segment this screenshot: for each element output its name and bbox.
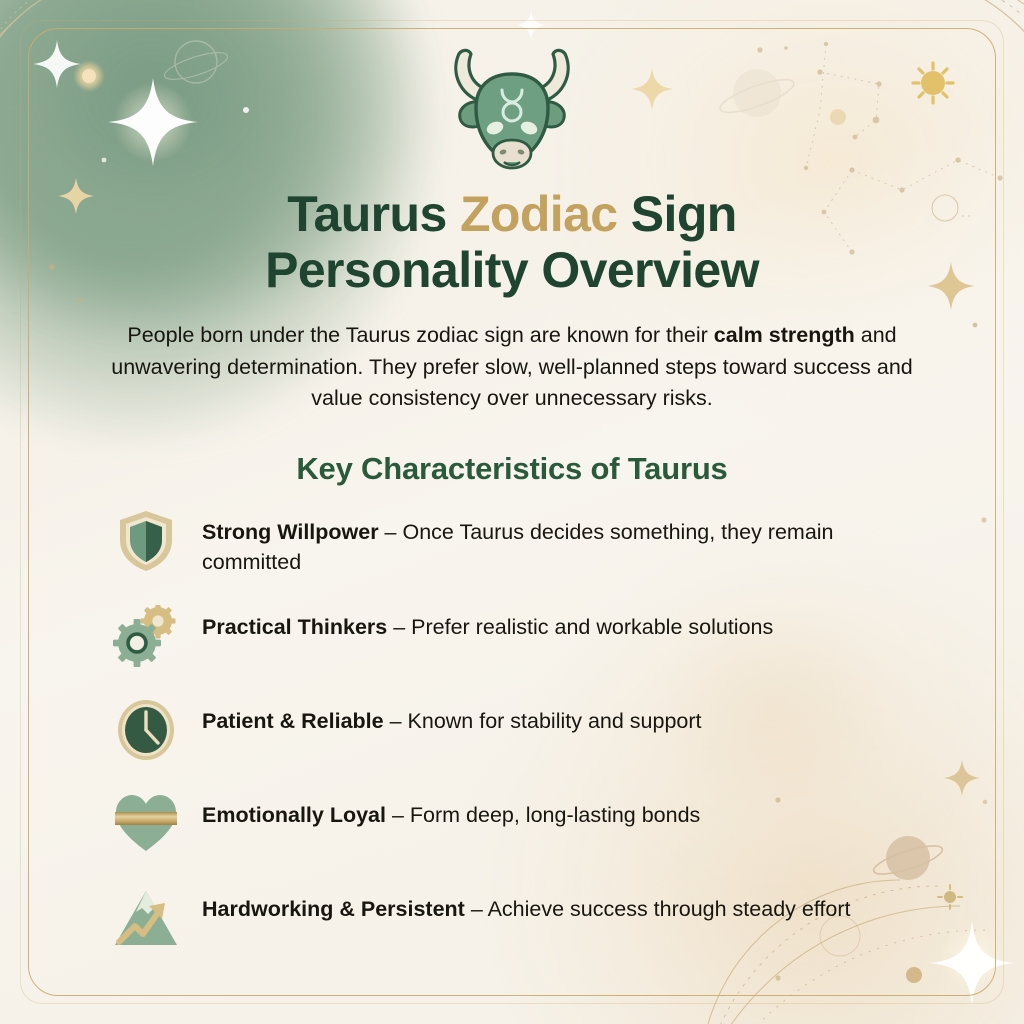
- title-part-2: Sign: [618, 186, 737, 242]
- title-part-1: Taurus: [287, 186, 460, 242]
- trait-dash: –: [465, 897, 488, 921]
- intro-paragraph: People born under the Taurus zodiac sign…: [97, 320, 927, 415]
- trait-dash: –: [386, 803, 410, 827]
- mountain-arrow-icon: [110, 882, 182, 954]
- infographic-poster: Taurus Zodiac Sign Personality Overview …: [0, 0, 1024, 1024]
- page-title: Taurus Zodiac Sign Personality Overview: [64, 186, 960, 298]
- trait-text: Emotionally Loyal – Form deep, long-last…: [202, 792, 700, 831]
- traits-list: Strong Willpower – Once Taurus decides s…: [64, 509, 960, 954]
- gears-icon: [110, 600, 182, 672]
- trait-description: Prefer realistic and workable solutions: [411, 615, 773, 639]
- trait-label: Hardworking & Persistent: [202, 897, 465, 921]
- bull-icon-wrapper: [64, 42, 960, 174]
- intro-bold-phrase: calm strength: [714, 323, 855, 347]
- taurus-bull-head-icon: [438, 42, 586, 174]
- trait-text: Practical Thinkers – Prefer realistic an…: [202, 604, 773, 643]
- list-item: Strong Willpower – Once Taurus decides s…: [110, 509, 960, 578]
- trait-text: Patient & Reliable – Known for stability…: [202, 698, 702, 737]
- title-highlight: Zodiac: [460, 186, 618, 242]
- trait-dash: –: [387, 615, 411, 639]
- list-item: Patient & Reliable – Known for stability…: [110, 698, 960, 766]
- trait-label: Practical Thinkers: [202, 615, 387, 639]
- trait-label: Emotionally Loyal: [202, 803, 386, 827]
- trait-dash: –: [379, 520, 403, 544]
- list-item: Emotionally Loyal – Form deep, long-last…: [110, 792, 960, 860]
- trait-dash: –: [384, 709, 408, 733]
- poster-content: Taurus Zodiac Sign Personality Overview …: [0, 0, 1024, 954]
- list-item: Hardworking & Persistent – Achieve succe…: [110, 886, 960, 954]
- trait-description: Known for stability and support: [408, 709, 702, 733]
- intro-text-before: People born under the Taurus zodiac sign…: [127, 323, 713, 347]
- list-item: Practical Thinkers – Prefer realistic an…: [110, 604, 960, 672]
- trait-text: Hardworking & Persistent – Achieve succe…: [202, 886, 850, 925]
- shield-icon: [110, 505, 182, 577]
- trait-text: Strong Willpower – Once Taurus decides s…: [202, 509, 902, 578]
- trait-description: Form deep, long-lasting bonds: [410, 803, 700, 827]
- section-heading: Key Characteristics of Taurus: [64, 451, 960, 487]
- trait-label: Strong Willpower: [202, 520, 379, 544]
- clock-icon: [110, 694, 182, 766]
- heart-with-band-icon: [110, 788, 182, 860]
- title-line-2: Personality Overview: [265, 242, 759, 298]
- trait-label: Patient & Reliable: [202, 709, 384, 733]
- trait-description: Achieve success through steady effort: [488, 897, 851, 921]
